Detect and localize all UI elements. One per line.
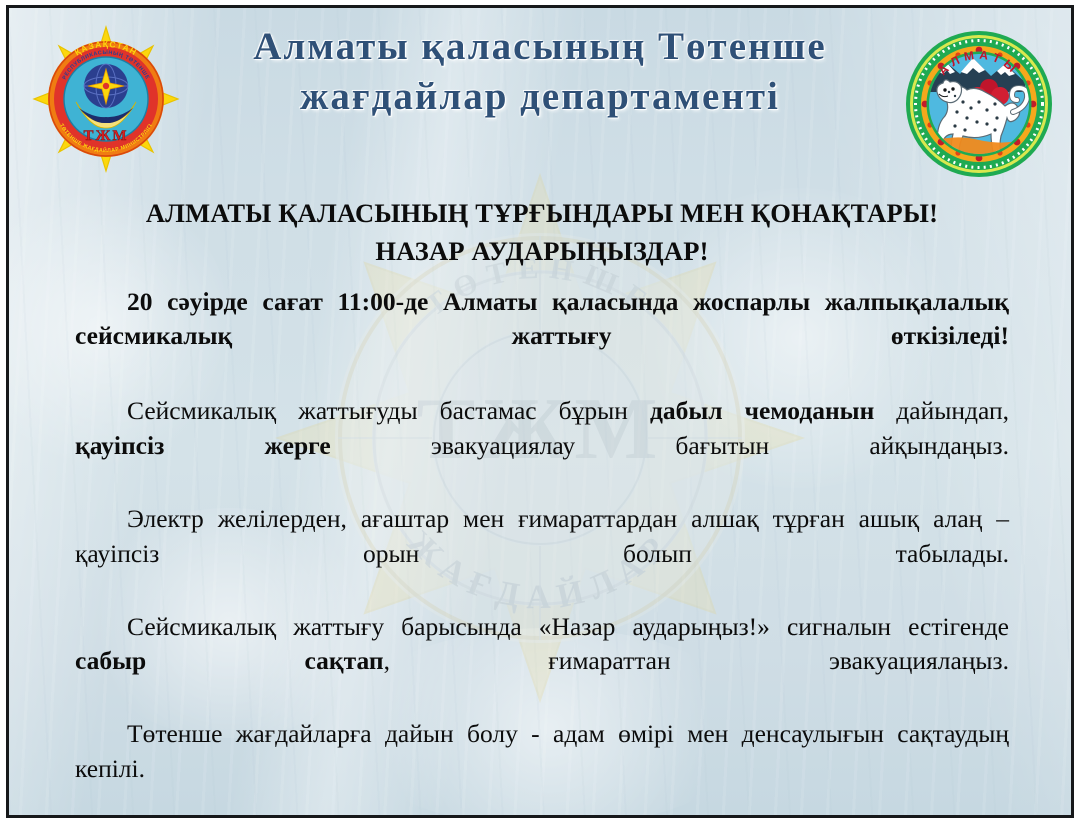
header-title-line-1: Алматы қаласының Төтенше [193,22,887,72]
para2-bold-alarm-suitcase: дабыл чемоданын [650,396,874,425]
paragraph-safe-place: Электр желілерден, ағаштар мен ғимаратта… [75,502,1009,606]
para4-text-before: Сейсмикалық жаттығу барысында «Назар ауд… [127,612,1009,641]
poster-canvas: ТЖМ ЖАҒДАЙЛАР ТӨТЕНШЕ [0,0,1080,824]
paragraph-alarm-suitcase: Сейсмикалық жаттығуды бастамас бұрын даб… [75,394,1009,498]
paragraph-readiness-note: Төтенше жағдайларға дайын болу - адам өм… [75,717,1009,818]
para2-text-before: Сейсмикалық жаттығуды бастамас бұрын [127,396,650,425]
kazakhstan-emergency-ministry-emblem: ҚАЗАҚСТАН РЕСПУБЛИКАСЫНЫҢ ТӨТЕНШЕ ТӨТЕНШ… [31,24,181,174]
almaty-city-coat-of-arms: АЛМАТЫ [905,30,1053,178]
header-title-line-2: жағдайлар департаменті [193,72,887,122]
para2-text-mid: дайындап, [874,396,1009,425]
page-title: АЛМАТЫ ҚАЛАСЫНЫҢ ТҰРҒЫНДАРЫ МЕН ҚОНАҚТАР… [75,194,1009,271]
poster-content: АЛМАТЫ ҚАЛАСЫНЫҢ ТҰРҒЫНДАРЫ МЕН ҚОНАҚТАР… [9,178,1071,815]
para2-bold-safe-place: қауіпсіз жерге [75,431,331,460]
svg-text:ТЖМ: ТЖМ [84,128,129,144]
poster-header-title: Алматы қаласының Төтенше жағдайлар депар… [193,22,887,121]
paragraph-lead-announcement: 20 сәуірде сағат 11:00-де Алматы қаласын… [75,285,1009,389]
poster-header: ҚАЗАҚСТАН РЕСПУБЛИКАСЫНЫҢ ТӨТЕНШЕ ТӨТЕНШ… [9,8,1071,178]
poster-border-frame: ТЖМ ЖАҒДАЙЛАР ТӨТЕНШЕ [6,5,1074,818]
para4-bold-stay-calm: сабыр сақтап [75,646,384,675]
main-heading-line-1: АЛМАТЫ ҚАЛАСЫНЫҢ ТҰРҒЫНДАРЫ МЕН ҚОНАҚТАР… [75,194,1009,232]
main-heading-line-2: НАЗАР АУДАРЫҢЫЗДАР! [75,232,1009,270]
paragraph-signal-instruction: Сейсмикалық жаттығу барысында «Назар ауд… [75,610,1009,714]
para4-text-after: , ғимараттан эвакуациялаңыз. [384,646,1009,675]
para2-text-after: эвакуациялау бағытын айқындаңыз. [331,431,1009,460]
